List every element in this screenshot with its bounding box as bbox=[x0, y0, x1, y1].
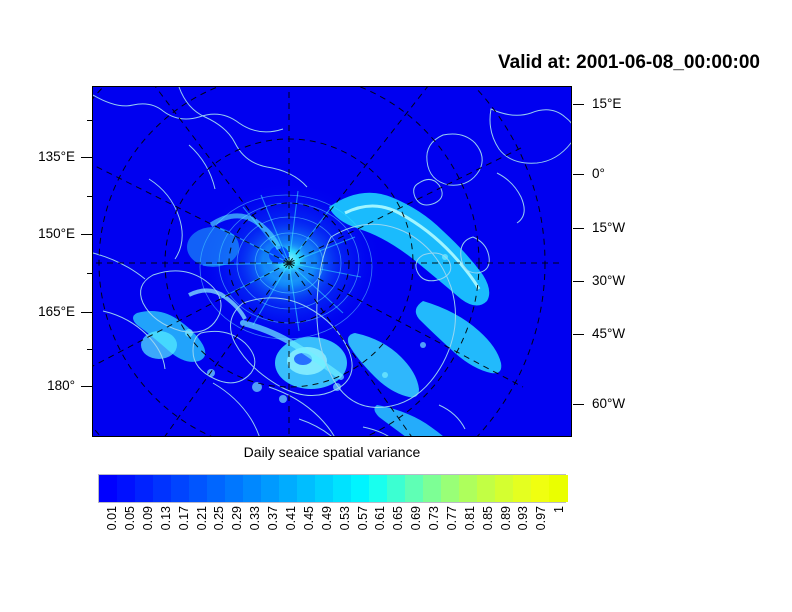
colorbar-cell bbox=[189, 475, 208, 502]
tick-major bbox=[573, 281, 584, 282]
tick-major bbox=[81, 386, 92, 387]
colorbar-tick-label: 0.81 bbox=[463, 506, 477, 530]
colorbar-tick-label: 0.13 bbox=[159, 506, 173, 530]
colorbar-tick-label: 0.89 bbox=[499, 506, 513, 530]
tick-minor bbox=[87, 120, 92, 121]
colorbar-cell bbox=[207, 475, 226, 502]
colorbar-cell bbox=[495, 475, 514, 502]
colorbar-cell bbox=[333, 475, 352, 502]
colorbar-cell bbox=[243, 475, 262, 502]
colorbar-cell bbox=[459, 475, 478, 502]
tick-major bbox=[81, 157, 92, 158]
map-plot-area bbox=[92, 86, 572, 437]
colorbar-cell bbox=[369, 475, 388, 502]
tick-major bbox=[573, 228, 584, 229]
right-axis-label-60w: 60°W bbox=[592, 396, 625, 411]
colorbar-tick-label: 0.37 bbox=[266, 506, 280, 530]
colorbar-tick-label: 0.65 bbox=[391, 506, 405, 530]
colorbar-cell bbox=[531, 475, 550, 502]
colorbar-tick-label: 0.01 bbox=[105, 506, 119, 530]
colorbar-tick-label: 0.25 bbox=[212, 506, 226, 530]
left-axis-label-165e: 165°E bbox=[0, 304, 75, 319]
colorbar-tick-label: 0.45 bbox=[302, 506, 316, 530]
colorbar-cell bbox=[423, 475, 442, 502]
colorbar bbox=[98, 474, 566, 503]
colorbar-cell bbox=[117, 475, 136, 502]
colorbar-tick-label: 0.41 bbox=[284, 506, 298, 530]
colorbar-tick-label: 0.93 bbox=[516, 506, 530, 530]
tick-minor bbox=[87, 196, 92, 197]
tick-major bbox=[81, 312, 92, 313]
colorbar-tick-label: 0.21 bbox=[195, 506, 209, 530]
tick-major bbox=[573, 404, 584, 405]
colorbar-cell bbox=[549, 475, 568, 502]
right-axis-label-15e: 15°E bbox=[592, 96, 621, 111]
colorbar-cell bbox=[225, 475, 244, 502]
colorbar-cell bbox=[297, 475, 316, 502]
left-axis-label-150e: 150°E bbox=[0, 226, 75, 241]
right-axis-label-45w: 45°W bbox=[592, 326, 625, 341]
colorbar-tick-label: 0.61 bbox=[373, 506, 387, 530]
colorbar-tick-label: 1 bbox=[552, 506, 566, 513]
colorbar-tick-label: 0.53 bbox=[338, 506, 352, 530]
colorbar-tick-label: 0.17 bbox=[177, 506, 191, 530]
colorbar-cell bbox=[171, 475, 190, 502]
colorbar-cell bbox=[405, 475, 424, 502]
colorbar-tick-label: 0.49 bbox=[320, 506, 334, 530]
right-axis-label-15w: 15°W bbox=[592, 220, 625, 235]
colorbar-gradient bbox=[98, 474, 566, 503]
right-axis-label-30w: 30°W bbox=[592, 273, 625, 288]
colorbar-tick-label: 0.77 bbox=[445, 506, 459, 530]
colorbar-tick-label: 0.33 bbox=[248, 506, 262, 530]
tick-major bbox=[573, 104, 584, 105]
right-axis-label-0: 0° bbox=[592, 166, 605, 181]
left-axis-label-180: 180° bbox=[0, 378, 75, 393]
tick-major bbox=[573, 174, 584, 175]
colorbar-tick-label: 0.73 bbox=[427, 506, 441, 530]
colorbar-cell bbox=[477, 475, 496, 502]
tick-minor bbox=[87, 273, 92, 274]
colorbar-cell bbox=[99, 475, 118, 502]
colorbar-cell bbox=[135, 475, 154, 502]
colorbar-cell bbox=[261, 475, 280, 502]
colorbar-cell bbox=[153, 475, 172, 502]
colorbar-tick-label: 0.09 bbox=[141, 506, 155, 530]
colorbar-tick-labels: 0.010.050.090.130.170.210.250.290.330.37… bbox=[98, 506, 566, 576]
tick-minor bbox=[87, 349, 92, 350]
left-axis-label-135e: 135°E bbox=[0, 149, 75, 164]
colorbar-tick-label: 0.85 bbox=[481, 506, 495, 530]
colorbar-tick-label: 0.05 bbox=[123, 506, 137, 530]
colorbar-tick-label: 0.29 bbox=[230, 506, 244, 530]
colorbar-cell bbox=[387, 475, 406, 502]
tick-major bbox=[573, 334, 584, 335]
page-title: Valid at: 2001-06-08_00:00:00 bbox=[300, 52, 760, 74]
colorbar-cell bbox=[441, 475, 460, 502]
plot-caption: Daily seaice spatial variance bbox=[92, 444, 572, 460]
tick-major bbox=[81, 234, 92, 235]
colorbar-cell bbox=[279, 475, 298, 502]
colorbar-tick-label: 0.97 bbox=[534, 506, 548, 530]
colorbar-tick-label: 0.57 bbox=[356, 506, 370, 530]
colorbar-cell bbox=[351, 475, 370, 502]
colorbar-tick-label: 0.69 bbox=[409, 506, 423, 530]
colorbar-cell bbox=[513, 475, 532, 502]
map-canvas bbox=[93, 87, 571, 436]
colorbar-cell bbox=[315, 475, 334, 502]
